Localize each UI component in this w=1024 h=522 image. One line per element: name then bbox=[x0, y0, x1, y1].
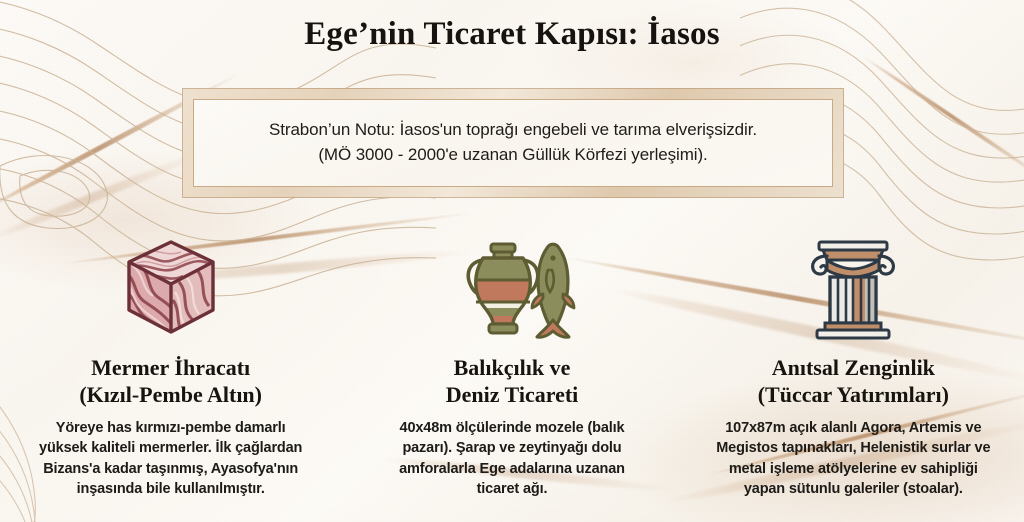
column-body-marble-export: Yöreye has kırmızı-pembe damarlı yüksek … bbox=[37, 418, 305, 500]
column-title-marble-export: Mermer İhracatı (Kızıl-Pembe Altın) bbox=[79, 354, 262, 409]
column-title-monumental-wealth: Anıtsal Zenginlik (Tüccar Yatırımları) bbox=[758, 354, 949, 409]
column-title-line-2: Deniz Ticareti bbox=[446, 381, 579, 408]
quote-frame: Strabon’un Notu: İasos'un toprağı engebe… bbox=[182, 88, 844, 198]
column-title-line-1: Anıtsal Zenginlik bbox=[758, 354, 949, 381]
quote-line-1: Strabon’un Notu: İasos'un toprağı engebe… bbox=[269, 118, 757, 143]
feature-columns: Mermer İhracatı (Kızıl-Pembe Altın) Yöre… bbox=[0, 236, 1024, 500]
slide-canvas: Ege’nin Ticaret Kapısı: İasos Strabon’un… bbox=[0, 0, 1024, 522]
column-monumental-wealth: Anıtsal Zenginlik (Tüccar Yatırımları) 1… bbox=[683, 236, 1024, 500]
column-title-line-2: (Kızıl-Pembe Altın) bbox=[79, 381, 262, 408]
quote-inner-panel: Strabon’un Notu: İasos'un toprağı engebe… bbox=[193, 99, 833, 187]
column-fishing-sea-trade: Balıkçılık ve Deniz Ticareti 40x48m ölçü… bbox=[341, 236, 682, 500]
column-title-line-1: Balıkçılık ve bbox=[446, 354, 579, 381]
column-marble-export: Mermer İhracatı (Kızıl-Pembe Altın) Yöre… bbox=[0, 236, 341, 500]
column-title-fishing-sea-trade: Balıkçılık ve Deniz Ticareti bbox=[446, 354, 579, 409]
quote-line-2: (MÖ 3000 - 2000'e uzanan Güllük Körfezi … bbox=[318, 143, 707, 168]
column-body-fishing-sea-trade: 40x48m ölçülerinde mozele (balık pazarı)… bbox=[376, 418, 648, 500]
page-title: Ege’nin Ticaret Kapısı: İasos bbox=[0, 16, 1024, 53]
column-title-line-1: Mermer İhracatı bbox=[79, 354, 262, 381]
column-title-line-2: (Tüccar Yatırımları) bbox=[758, 381, 949, 408]
ionic-column-icon bbox=[797, 236, 909, 340]
amphora-and-fish-icon bbox=[447, 236, 577, 340]
column-body-monumental-wealth: 107x87m açık alanlı Agora, Artemis ve Me… bbox=[714, 418, 992, 500]
marble-block-icon bbox=[119, 236, 223, 340]
